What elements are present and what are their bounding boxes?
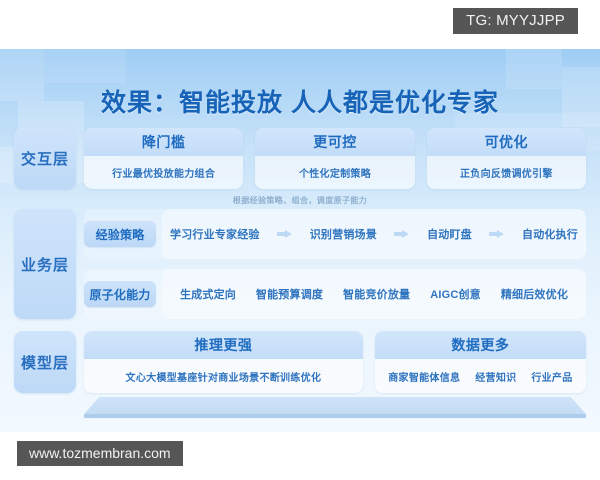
card-subtitle: 正负向反馈调优引擎: [427, 156, 586, 189]
card-lower-threshold[interactable]: 降门槛 行业最优投放能力组合: [84, 128, 243, 189]
card-title: 可优化: [427, 128, 586, 156]
arrow-right-icon: [394, 230, 410, 239]
flow-steps: 学习行业专家经验 识别营销场景 自动盯盘 自动化执行: [162, 209, 586, 259]
card-title: 更可控: [255, 128, 414, 156]
card-subtitle: 行业最优投放能力组合: [84, 156, 243, 189]
row-body-model: 推理更强 文心大模型基座针对商业场景不断训练优化 数据更多 商家智能体信息 经营…: [84, 331, 586, 393]
capability-item[interactable]: 生成式定向: [180, 286, 236, 302]
flow-step[interactable]: 自动化执行: [522, 226, 578, 242]
capability-item[interactable]: 智能预算调度: [256, 286, 323, 302]
row-label-business: 业务层: [14, 209, 76, 319]
flow-step[interactable]: 识别营销场景: [310, 226, 377, 242]
row-interaction-layer: 交互层 降门槛 行业最优投放能力组合 更可控 个性化定制策略 可优化 正负向反馈…: [14, 128, 586, 189]
decorative-block: [44, 49, 126, 83]
card-subitem: 文心大模型基座针对商业场景不断训练优化: [126, 369, 322, 384]
arrow-right-icon: [277, 230, 293, 239]
capability-item[interactable]: 精细后效优化: [501, 286, 568, 302]
row-label-model: 模型层: [14, 331, 76, 393]
card-title: 推理更强: [84, 331, 363, 359]
card-subitems: 文心大模型基座针对商业场景不断训练优化: [84, 359, 363, 393]
row-connector-caption: 根据经验策略、组合，调度原子能力: [0, 195, 600, 206]
card-stronger-reasoning[interactable]: 推理更强 文心大模型基座针对商业场景不断训练优化: [84, 331, 363, 393]
row-body-business: 经验策略 学习行业专家经验 识别营销场景 自动盯盘 自动化执行 原子化能力 生: [84, 209, 586, 319]
pill-atomic-capability[interactable]: 原子化能力: [84, 281, 156, 307]
flow-step[interactable]: 学习行业专家经验: [170, 226, 260, 242]
slide-canvas: 效果：智能投放 人人都是优化专家 交互层 降门槛 行业最优投放能力组合 更可控 …: [0, 49, 600, 432]
business-line-experience-strategy: 经验策略 学习行业专家经验 识别营销场景 自动盯盘 自动化执行: [84, 209, 586, 259]
card-title: 数据更多: [375, 331, 586, 359]
card-subitem: 商家智能体信息: [388, 369, 460, 384]
pill-experience-strategy[interactable]: 经验策略: [84, 221, 156, 247]
arrow-right-icon: [489, 230, 505, 239]
capability-items: 生成式定向 智能预算调度 智能竞价放量 AIGC创意 精细后效优化: [162, 269, 586, 319]
row-label-interaction: 交互层: [14, 128, 76, 189]
row-body-interaction: 降门槛 行业最优投放能力组合 更可控 个性化定制策略 可优化 正负向反馈调优引擎: [84, 128, 586, 189]
card-subitem: 经营知识: [475, 369, 516, 384]
card-subtitle: 个性化定制策略: [255, 156, 414, 189]
row-model-layer: 模型层 推理更强 文心大模型基座针对商业场景不断训练优化 数据更多 商家智能体信…: [14, 331, 586, 393]
flow-step[interactable]: 自动盯盘: [427, 226, 472, 242]
bottom-watermark: www.tozmembran.com: [17, 441, 183, 466]
capability-item[interactable]: AIGC创意: [430, 286, 481, 302]
card-title: 降门槛: [84, 128, 243, 156]
card-subitem: 行业产品: [531, 369, 572, 384]
card-subitems: 商家智能体信息 经营知识 行业产品: [375, 359, 586, 393]
card-more-data[interactable]: 数据更多 商家智能体信息 经营知识 行业产品: [375, 331, 586, 393]
base-platform-edge: [84, 414, 586, 418]
capability-item[interactable]: 智能竞价放量: [343, 286, 410, 302]
row-business-layer: 业务层 经验策略 学习行业专家经验 识别营销场景 自动盯盘 自动化执行: [14, 209, 586, 319]
card-optimizable[interactable]: 可优化 正负向反馈调优引擎: [427, 128, 586, 189]
card-more-controllable[interactable]: 更可控 个性化定制策略: [255, 128, 414, 189]
slide-title: 效果：智能投放 人人都是优化专家: [0, 83, 600, 119]
business-line-atomic-capability: 原子化能力 生成式定向 智能预算调度 智能竞价放量 AIGC创意 精细后效优化: [84, 269, 586, 319]
top-watermark: TG: MYYJJPP: [453, 8, 578, 34]
